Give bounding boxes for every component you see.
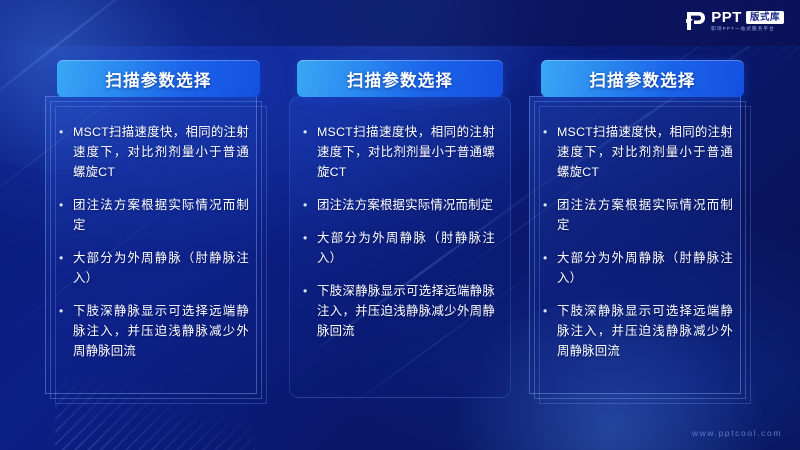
list-item: • 大部分为外周静脉（肘静脉注入） bbox=[303, 228, 495, 268]
card-header-2: 扫描参数选择 bbox=[297, 60, 503, 97]
list-item: • 下肢深静脉显示可选择远端静脉注入，并压迫浅静脉减少外周静脉回流 bbox=[303, 281, 495, 341]
bullet-text: 下肢深静脉显示可选择远端静脉注入，并压迫浅静脉减少外周静脉回流 bbox=[73, 301, 249, 361]
bullet-text: MSCT扫描速度快，相同的注射速度下，对比剂剂量小于普通螺旋CT bbox=[317, 122, 495, 182]
list-item: • 大部分为外周静脉（肘静脉注入） bbox=[543, 248, 733, 288]
card-title: 扫描参数选择 bbox=[589, 67, 695, 91]
list-item: • MSCT扫描速度快，相同的注射速度下，对比剂剂量小于普通螺旋CT bbox=[543, 122, 733, 182]
list-item: • 下肢深静脉显示可选择远端静脉注入，并压迫浅静脉减少外周静脉回流 bbox=[543, 301, 733, 361]
bullet-text: 团注法方案根据实际情况而制定 bbox=[73, 195, 249, 235]
card-bullet-list-1: • MSCT扫描速度快，相同的注射速度下，对比剂剂量小于普通螺旋CT • 团注法… bbox=[59, 122, 249, 361]
bullet-text: MSCT扫描速度快，相同的注射速度下，对比剂剂量小于普通螺旋CT bbox=[557, 122, 733, 182]
card-header-1: 扫描参数选择 bbox=[57, 60, 260, 97]
logo-name: PPT bbox=[711, 10, 742, 25]
bullet-text: 下肢深静脉显示可选择远端静脉注入，并压迫浅静脉减少外周静脉回流 bbox=[317, 281, 495, 341]
list-item: • 团注法方案根据实际情况而制定 bbox=[59, 195, 249, 235]
slide-canvas: PPT 版式库 职场PPT一站式服务平台 扫描参数选择 • MSCT扫描速度快，… bbox=[0, 0, 800, 450]
card-bullet-list-2: • MSCT扫描速度快，相同的注射速度下，对比剂剂量小于普通螺旋CT • 团注法… bbox=[303, 122, 495, 341]
bullet-text: 团注法方案根据实际情况而制定 bbox=[557, 195, 733, 235]
card-title: 扫描参数选择 bbox=[347, 67, 453, 91]
list-item: • 团注法方案根据实际情况而制定 bbox=[303, 195, 495, 215]
brand-logo: PPT 版式库 职场PPT一站式服务平台 bbox=[684, 6, 784, 36]
card-bullet-list-3: • MSCT扫描速度快，相同的注射速度下，对比剂剂量小于普通螺旋CT • 团注法… bbox=[543, 122, 733, 361]
ppt-p-logo-icon bbox=[684, 10, 706, 32]
content-card-1: 扫描参数选择 • MSCT扫描速度快，相同的注射速度下，对比剂剂量小于普通螺旋C… bbox=[45, 60, 271, 408]
list-item: • 团注法方案根据实际情况而制定 bbox=[543, 195, 733, 235]
card-header-3: 扫描参数选择 bbox=[541, 60, 744, 97]
bullet-marker-icon: • bbox=[303, 281, 317, 301]
list-item: • MSCT扫描速度快，相同的注射速度下，对比剂剂量小于普通螺旋CT bbox=[59, 122, 249, 182]
content-card-2: 扫描参数选择 • MSCT扫描速度快，相同的注射速度下，对比剂剂量小于普通螺旋C… bbox=[287, 60, 513, 408]
bullet-marker-icon: • bbox=[59, 195, 73, 215]
bullet-marker-icon: • bbox=[543, 122, 557, 142]
list-item: • 下肢深静脉显示可选择远端静脉注入，并压迫浅静脉减少外周静脉回流 bbox=[59, 301, 249, 361]
bullet-marker-icon: • bbox=[543, 195, 557, 215]
bullet-marker-icon: • bbox=[303, 122, 317, 142]
bullet-marker-icon: • bbox=[303, 228, 317, 248]
bullet-text: 大部分为外周静脉（肘静脉注入） bbox=[73, 248, 249, 288]
site-watermark: www.pptcool.com bbox=[692, 428, 782, 438]
bullet-marker-icon: • bbox=[59, 122, 73, 142]
bullet-marker-icon: • bbox=[543, 301, 557, 321]
logo-text-block: PPT 版式库 职场PPT一站式服务平台 bbox=[711, 10, 784, 32]
bullet-text: MSCT扫描速度快，相同的注射速度下，对比剂剂量小于普通螺旋CT bbox=[73, 122, 249, 182]
bullet-marker-icon: • bbox=[59, 248, 73, 268]
top-bar bbox=[0, 0, 800, 46]
card-title: 扫描参数选择 bbox=[105, 67, 211, 91]
bullet-text: 大部分为外周静脉（肘静脉注入） bbox=[557, 248, 733, 288]
bullet-text: 大部分为外周静脉（肘静脉注入） bbox=[317, 228, 495, 268]
bullet-text: 下肢深静脉显示可选择远端静脉注入，并压迫浅静脉减少外周静脉回流 bbox=[557, 301, 733, 361]
bullet-marker-icon: • bbox=[59, 301, 73, 321]
logo-tagline: 职场PPT一站式服务平台 bbox=[711, 27, 784, 32]
bullet-marker-icon: • bbox=[303, 195, 317, 215]
logo-badge: 版式库 bbox=[746, 11, 784, 24]
bullet-text: 团注法方案根据实际情况而制定 bbox=[317, 195, 495, 215]
list-item: • MSCT扫描速度快，相同的注射速度下，对比剂剂量小于普通螺旋CT bbox=[303, 122, 495, 182]
content-card-3: 扫描参数选择 • MSCT扫描速度快，相同的注射速度下，对比剂剂量小于普通螺旋C… bbox=[529, 60, 755, 408]
bullet-marker-icon: • bbox=[543, 248, 557, 268]
logo-title-row: PPT 版式库 bbox=[711, 10, 784, 25]
list-item: • 大部分为外周静脉（肘静脉注入） bbox=[59, 248, 249, 288]
